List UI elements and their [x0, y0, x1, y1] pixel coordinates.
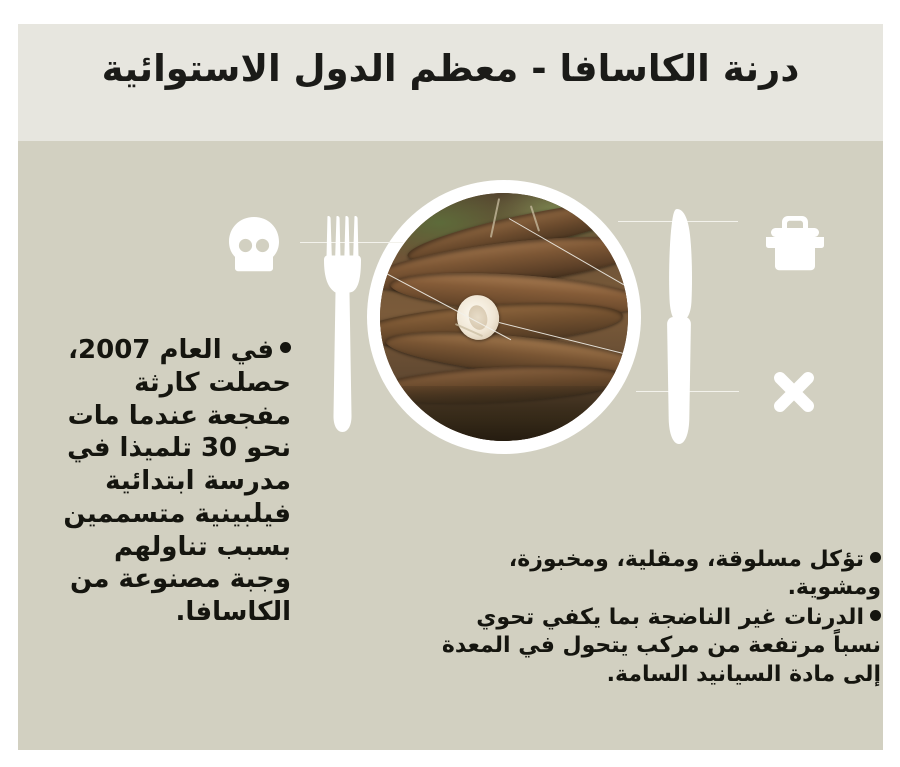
right-note-2: الدرنات غير الناضجة بما يكفي تحوي نسباً … — [438, 604, 881, 688]
right-note-2-text: الدرنات غير الناضجة بما يكفي تحوي نسباً … — [442, 605, 881, 686]
knife-icon — [660, 207, 698, 447]
x-icon — [771, 369, 817, 415]
fork-icon — [318, 214, 368, 444]
infographic-panel: درنة الكاسافا - معظم الدول الاستوائية — [18, 24, 883, 750]
right-notes-block: تؤكل مسلوقة، ومقلية، ومخبوزة، ومشوية. ال… — [438, 546, 881, 691]
pot-icon — [764, 214, 826, 272]
page-title: درنة الكاسافا - معظم الدول الاستوائية — [18, 46, 883, 92]
soil-ground — [380, 386, 628, 441]
right-note-1-text: تؤكل مسلوقة، ومقلية، ومخبوزة، ومشوية. — [509, 547, 881, 600]
left-note-text: في العام 2007، حصلت كارثة مفجعة عندما ما… — [63, 335, 291, 627]
left-note-block: في العام 2007، حصلت كارثة مفجعة عندما ما… — [48, 334, 291, 629]
right-note-1: تؤكل مسلوقة، ومقلية، ومخبوزة، ومشوية. — [438, 546, 881, 602]
cassava-roots-photo — [380, 193, 628, 441]
bullet-dot — [870, 552, 881, 563]
bullet-dot — [280, 342, 291, 353]
cassava-photo-frame — [367, 180, 641, 454]
skull-icon — [223, 216, 285, 278]
bullet-dot — [870, 610, 881, 621]
